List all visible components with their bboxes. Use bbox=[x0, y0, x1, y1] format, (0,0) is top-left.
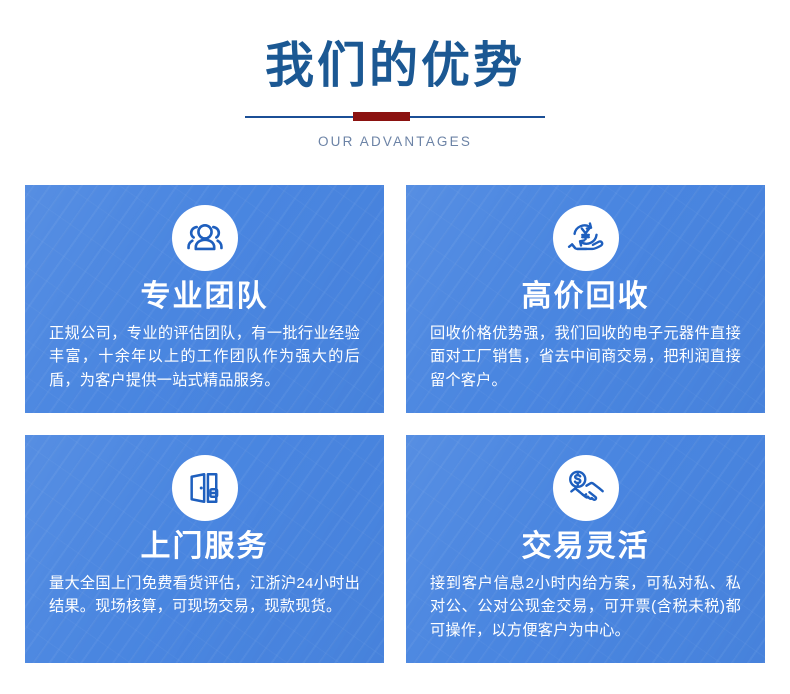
title-divider bbox=[245, 108, 545, 126]
advantages-grid: 专业团队 正规公司，专业的评估团队，有一批行业经验丰富，十余年以上的工作团队作为… bbox=[25, 185, 765, 663]
page-subtitle: OUR ADVANTAGES bbox=[0, 134, 790, 149]
advantage-card-flexible-trade[interactable]: 交易灵活 接到客户信息2小时内给方案，可私对私、私对公、公对公现金交易，可开票(… bbox=[406, 435, 765, 663]
advantage-card-high-price-recycle[interactable]: 高价回收 回收价格优势强，我们回收的电子元器件直接面对工厂销售，省去中间商交易，… bbox=[406, 185, 765, 413]
card-title: 上门服务 bbox=[141, 530, 269, 565]
card-description: 正规公司，专业的评估团队，有一批行业经验丰富，十余年以上的工作团队作为强大的后盾… bbox=[47, 322, 362, 393]
card-title: 交易灵活 bbox=[522, 530, 650, 565]
advantages-page: 我们的优势 OUR ADVANTAGES bbox=[0, 0, 790, 694]
card-description: 接到客户信息2小时内给方案，可私对私、私对公、公对公现金交易，可开票(含税未税)… bbox=[428, 572, 743, 643]
icon-circle bbox=[172, 455, 238, 521]
divider-accent-bar bbox=[353, 112, 410, 121]
card-title: 专业团队 bbox=[141, 280, 269, 315]
card-description: 量大全国上门免费看货评估，江浙沪24小时出结果。现场核算，可现场交易，现款现货。 bbox=[47, 572, 362, 619]
icon-circle bbox=[553, 455, 619, 521]
card-title: 高价回收 bbox=[522, 280, 650, 315]
team-people-icon bbox=[184, 217, 226, 259]
card-description: 回收价格优势强，我们回收的电子元器件直接面对工厂销售，省去中间商交易，把利润直接… bbox=[428, 322, 743, 393]
hand-holding-yuan-recycle-icon bbox=[564, 216, 608, 260]
advantage-card-door-service[interactable]: 上门服务 量大全国上门免费看货评估，江浙沪24小时出结果。现场核算，可现场交易，… bbox=[25, 435, 384, 663]
handshake-dollar-icon bbox=[564, 466, 608, 510]
icon-circle bbox=[172, 205, 238, 271]
advantage-card-team[interactable]: 专业团队 正规公司，专业的评估团队，有一批行业经验丰富，十余年以上的工作团队作为… bbox=[25, 185, 384, 413]
section-header: 我们的优势 OUR ADVANTAGES bbox=[0, 0, 790, 149]
page-title: 我们的优势 bbox=[0, 38, 790, 94]
icon-circle bbox=[553, 205, 619, 271]
open-door-icon bbox=[185, 468, 225, 508]
